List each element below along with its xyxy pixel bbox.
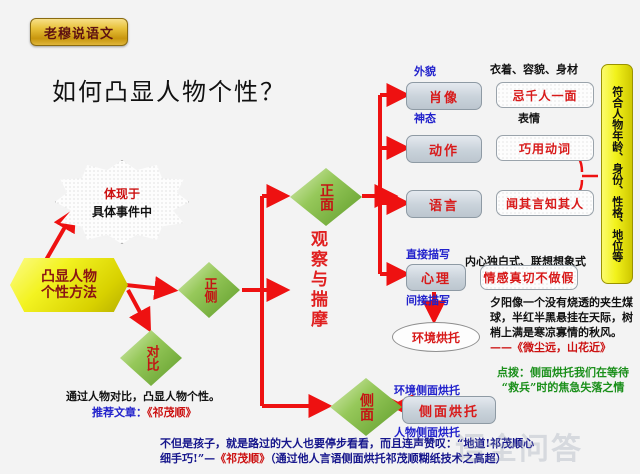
- brand-badge: 老穆说语文: [30, 18, 128, 46]
- duibi-recommend: 推荐文章：《祁茂顺》: [92, 406, 197, 421]
- ellipse-label: 环境烘托: [412, 329, 460, 346]
- bottom-quote-source: 《祁茂顺》: [215, 452, 270, 465]
- tip-ji-qianren: 忌千人一面: [496, 82, 594, 108]
- dianbo-line1: 点拨：侧面烘托我们在等待: [486, 366, 640, 381]
- label-jianjie-miaoxie: 间接描写: [406, 292, 450, 308]
- diamond-cemian-label: 侧面: [359, 393, 373, 421]
- dianbo-line2: “救兵”时的焦急失落之情: [486, 381, 640, 396]
- bottom-quote-line2a: 细手巧!”—: [160, 452, 215, 465]
- box-xinli: 心理: [406, 264, 466, 291]
- hexagon-line2: 个性方法: [41, 285, 97, 301]
- box-cemian-hongtuo-label: 侧面烘托: [419, 401, 479, 420]
- node-diamond-cemian: 侧面: [330, 378, 402, 436]
- box-xiaoxiang-label: 肖像: [429, 87, 459, 106]
- diamond-zhengce-label: 正侧: [203, 277, 216, 303]
- node-star-embodiment: 体现于 具体事件中: [55, 160, 189, 244]
- watermark: 语全问答: [455, 424, 583, 468]
- quote-source: ——《微尘远，山花近》: [490, 341, 611, 354]
- node-right-requirement-bar: 符合人物年龄、身份、性格、地位等: [601, 64, 633, 284]
- node-hexagon-method: 凸显人物 个性方法: [10, 258, 128, 312]
- hexagon-line1: 凸显人物: [41, 269, 97, 285]
- box-cemian-hongtuo: 侧面烘托: [402, 396, 496, 424]
- label-shentai: 神态: [414, 110, 436, 126]
- tip-qinggan-zhenqie: 情感真切不做假: [480, 265, 578, 290]
- label-zhijie-miaoxie: 直接描写: [406, 246, 450, 262]
- brand-badge-label: 老穆说语文: [44, 23, 114, 42]
- box-dongzuo-label: 动作: [429, 140, 459, 159]
- center-vertical-label: 观察与揣摩: [305, 230, 330, 330]
- box-xiaoxiang: 肖像: [406, 82, 482, 110]
- tip-qiaoyong-dongci: 巧用动词: [496, 135, 594, 161]
- tip-qiaoyong-dongci-label: 巧用动词: [519, 140, 571, 157]
- label-biaoqing: 表情: [518, 110, 540, 126]
- diamond-duibi-label: 对比: [145, 345, 158, 371]
- right-bar-label: 符合人物年龄、身份、性格、地位等: [611, 86, 623, 262]
- quote-block: 夕阳像一个没有烧透的夹生煤球，半红半黑悬挂在天际，树梢上满是寒凉寡情的秋风。 —…: [490, 296, 640, 355]
- node-ellipse-huanjing-hongtuo: 环境烘托: [392, 322, 480, 352]
- tip-ji-qianren-label: 忌千人一面: [512, 87, 577, 104]
- star-line1: 体现于: [104, 185, 140, 202]
- tip-wenqiyan-label: 闻其言知其人: [506, 195, 584, 212]
- box-xinli-label: 心理: [421, 268, 451, 287]
- label-waimao: 外貌: [414, 63, 436, 79]
- tip-qinggan-zhenqie-label: 情感真切不做假: [483, 269, 574, 286]
- box-yuyan-label: 语言: [429, 195, 459, 214]
- node-diamond-zhengce: 正侧: [178, 262, 240, 318]
- diamond-zhengmian-label: 正面: [319, 183, 333, 211]
- node-diamond-duibi: 对比: [120, 330, 182, 386]
- duibi-recommend-prefix: 推荐文章：: [92, 406, 147, 419]
- node-diamond-zhengmian: 正面: [290, 168, 362, 226]
- duibi-note: 通过人物对比，凸显人物个性。: [66, 390, 220, 405]
- quote-body: 夕阳像一个没有烧透的夹生煤球，半红半黑悬挂在天际，树梢上满是寒凉寡情的秋风。: [490, 296, 633, 339]
- tip-wenqiyan: 闻其言知其人: [496, 190, 594, 216]
- star-line2: 具体事件中: [92, 203, 152, 220]
- box-dongzuo: 动作: [406, 135, 482, 163]
- box-yuyan: 语言: [406, 190, 482, 218]
- page-title: 如何凸显人物个性？: [52, 72, 286, 107]
- dianbo-note: 点拨：侧面烘托我们在等待 “救兵”时的焦急失落之情: [486, 366, 640, 396]
- duibi-recommend-title: 《祁茂顺》: [147, 406, 197, 419]
- label-yizhuo: 衣着、容貌、身材: [490, 61, 578, 77]
